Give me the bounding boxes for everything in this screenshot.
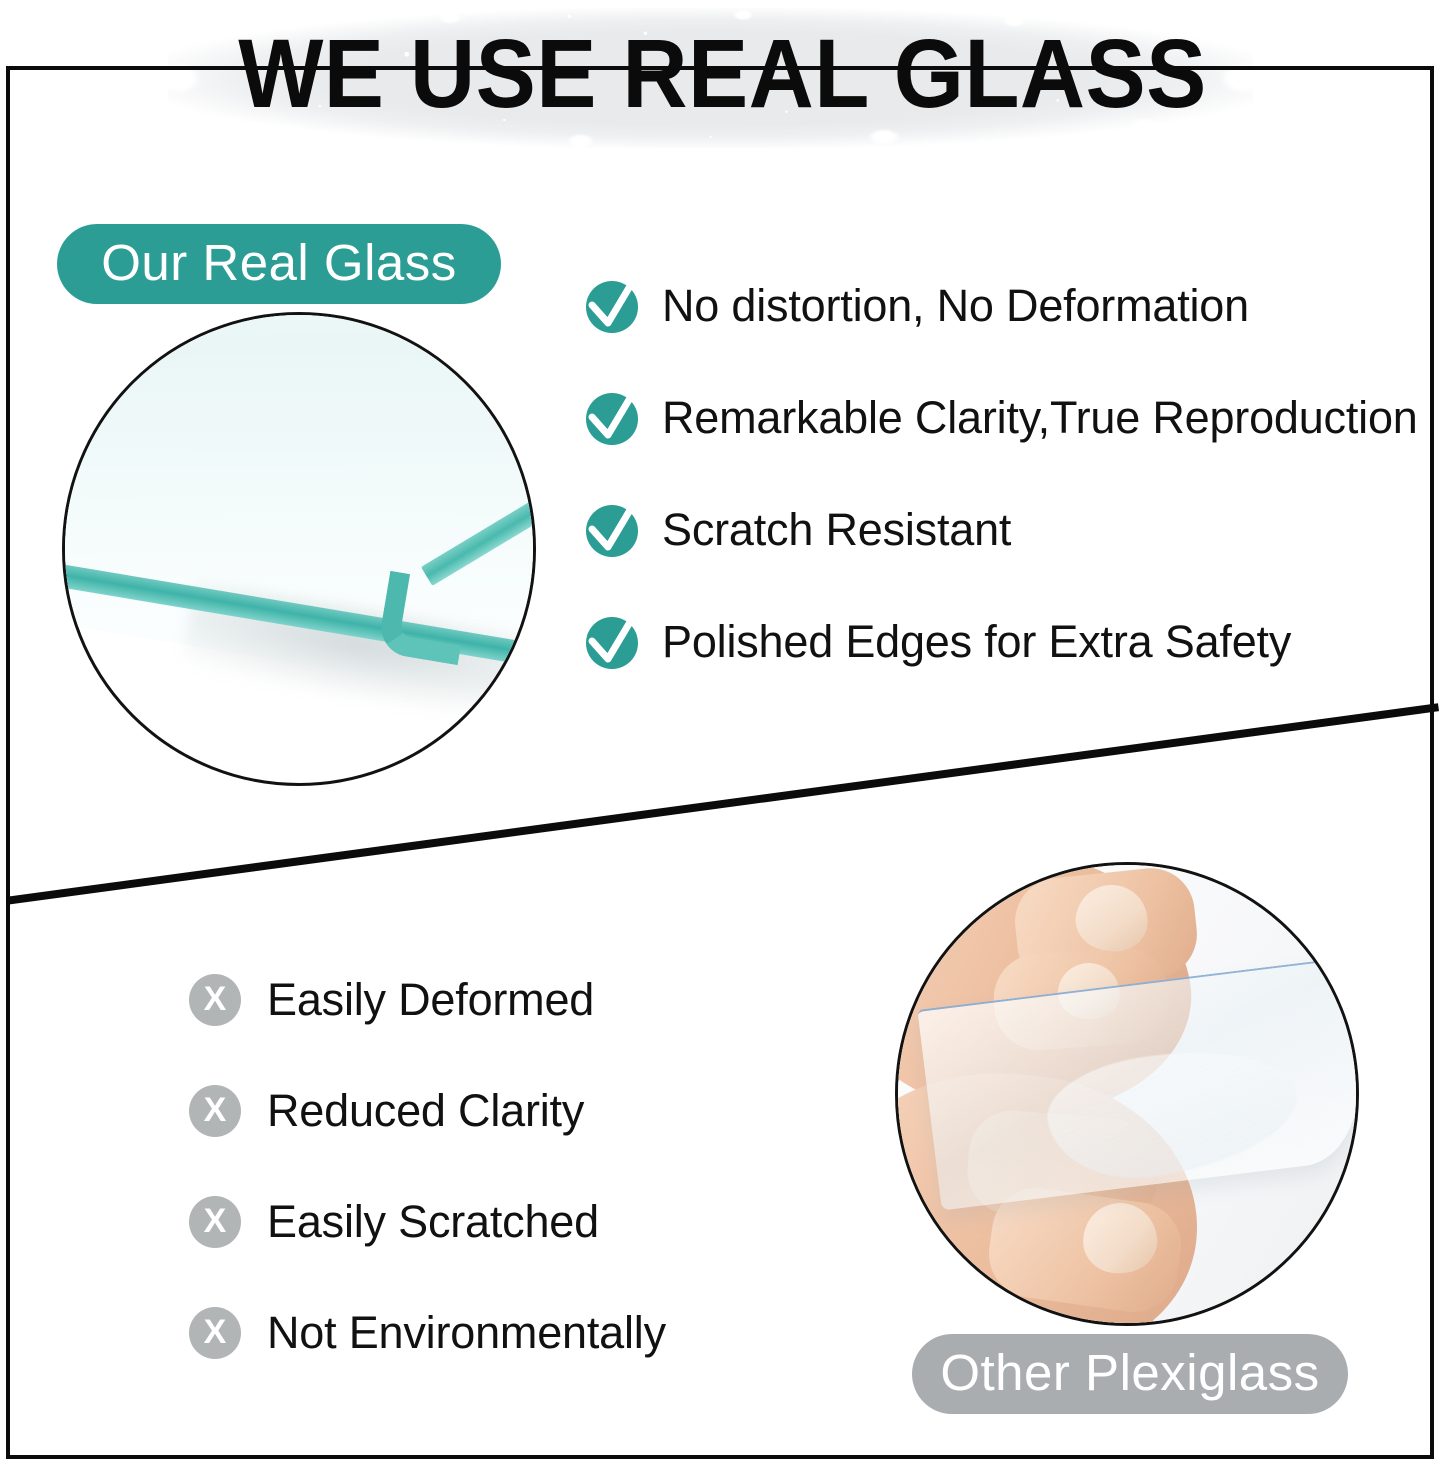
list-item: Remarkable Clarity,True Reproduction	[584, 388, 1436, 448]
drawbacks-list: X Easily Deformed X Reduced Clarity X Ea…	[189, 972, 809, 1416]
x-circle-icon: X	[189, 1196, 241, 1248]
list-item: X Not Environmentally	[189, 1305, 809, 1361]
list-item: Scratch Resistant	[584, 500, 1436, 560]
benefit-label: Remarkable Clarity,True Reproduction	[662, 393, 1418, 443]
drawback-label: Easily Scratched	[267, 1197, 599, 1247]
badge-our-real-glass: Our Real Glass	[57, 224, 501, 304]
list-item: Polished Edges for Extra Safety	[584, 612, 1436, 672]
check-circle-icon	[584, 502, 640, 558]
list-item: No distortion, No Deformation	[584, 276, 1436, 336]
list-item: X Reduced Clarity	[189, 1083, 809, 1139]
benefit-label: Scratch Resistant	[662, 505, 1011, 555]
x-circle-icon: X	[189, 1307, 241, 1359]
page-title: WE USE REAL GLASS	[51, 22, 1395, 126]
check-circle-icon	[584, 614, 640, 670]
plexiglass-photo	[895, 862, 1359, 1326]
drawback-label: Not Environmentally	[267, 1308, 666, 1358]
x-circle-icon: X	[189, 1085, 241, 1137]
real-glass-photo	[62, 312, 536, 786]
badge-other-plexiglass: Other Plexiglass	[912, 1334, 1348, 1414]
drawback-label: Reduced Clarity	[267, 1086, 584, 1136]
benefits-list: No distortion, No Deformation Remarkable…	[584, 276, 1436, 724]
badge-other-plexiglass-label: Other Plexiglass	[940, 1347, 1319, 1398]
list-item: X Easily Scratched	[189, 1194, 809, 1250]
check-circle-icon	[584, 390, 640, 446]
badge-our-real-glass-label: Our Real Glass	[101, 237, 457, 288]
drawback-label: Easily Deformed	[267, 975, 594, 1025]
x-circle-icon: X	[189, 974, 241, 1026]
benefit-label: No distortion, No Deformation	[662, 281, 1249, 331]
list-item: X Easily Deformed	[189, 972, 809, 1028]
benefit-label: Polished Edges for Extra Safety	[662, 617, 1291, 667]
check-circle-icon	[584, 278, 640, 334]
